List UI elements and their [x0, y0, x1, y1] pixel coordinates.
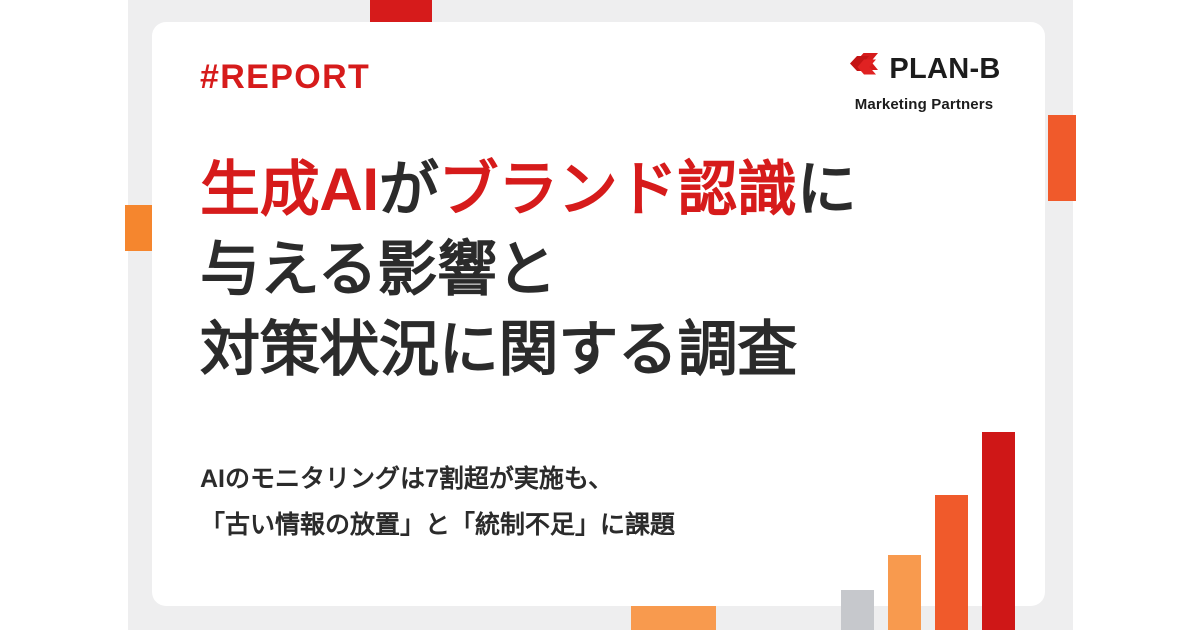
headline-line-3: 対策状況に関する調査 — [200, 310, 1010, 390]
page-subtitle: AIのモニタリングは7割超が実施も、 「古い情報の放置」と「統制不足」に課題 — [200, 456, 940, 548]
bar-chart-bars — [841, 400, 1041, 630]
brand-tagline: Marketing Partners — [829, 97, 1019, 112]
headline-line-1: 生成AIがブランド認識に — [200, 150, 1010, 230]
decor-top-red-block — [370, 0, 432, 24]
page-title: 生成AIがブランド認識に 与える影響と 対策状況に関する調査 — [200, 150, 1010, 389]
headline-seg-1c: ブランド認識 — [439, 156, 797, 223]
decor-left-orange-block — [125, 205, 153, 251]
subtitle-line-2: 「古い情報の放置」と「統制不足」に課題 — [200, 502, 940, 548]
headline-seg-3a: 対策状況に関する調査 — [200, 316, 797, 383]
headline-seg-2a: 与える影響と — [200, 236, 556, 303]
subtitle-line-1: AIのモニタリングは7割超が実施も、 — [200, 456, 940, 502]
headline-seg-1d: に — [797, 156, 857, 223]
brand-logo: PLAN-B Marketing Partners — [829, 50, 1019, 112]
decor-right-orange-block — [1048, 115, 1076, 201]
bar-1 — [841, 590, 874, 630]
plan-b-chevron-icon — [847, 50, 881, 89]
bar-4 — [982, 432, 1015, 630]
headline-line-2: 与える影響と — [200, 230, 1010, 310]
bar-2 — [888, 555, 921, 630]
brand-wordmark: PLAN-B — [889, 55, 1000, 84]
headline-seg-1a: 生成AI — [200, 156, 379, 223]
report-tag: #REPORT — [200, 60, 370, 94]
poster-canvas: #REPORT PLAN-B Marketing Partners 生成AIがブ… — [0, 0, 1200, 630]
bar-3 — [935, 495, 968, 630]
headline-seg-1b: が — [379, 156, 439, 223]
